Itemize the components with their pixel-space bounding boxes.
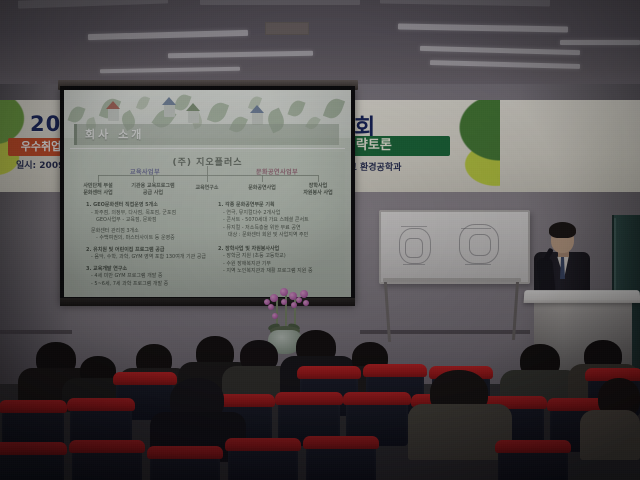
- auditorium-seat[interactable]: [72, 446, 142, 480]
- slide-left-column: 1. GEO문화센터 직접운영 5개소 - 파주점, 의정부, 다사점, 목포점…: [86, 202, 206, 288]
- ceiling-light: [398, 24, 568, 33]
- audience-shoulders: [580, 410, 640, 460]
- org-node: 장학사업자원봉사 사업: [295, 183, 341, 197]
- slide-divider: [70, 148, 345, 149]
- slide-body: (주) 지오플러스 교육사업부 문화공연사업부 사민단체 부설문화센터 사업 기…: [70, 152, 345, 294]
- org-group-label-education: 교육사업부: [130, 167, 160, 176]
- auditorium-seat[interactable]: [306, 442, 376, 480]
- slide-right-column: 1. 각종 문화공연부문 기획 - 연극, 뮤지컬다수 2개사업 - 콘서트 -…: [218, 202, 340, 276]
- ceiling-light: [168, 51, 313, 59]
- ceiling: [0, 0, 640, 92]
- wall-rail: [360, 330, 530, 334]
- whiteboard-tray: [383, 278, 521, 282]
- projection-screen: 회사 소개 (주) 지오플러스 교육사업부 문화공연사업부 사민단체 부설문화센…: [64, 90, 351, 297]
- org-node: 문화공연사업: [239, 185, 285, 192]
- screen-bottom-bar: [60, 298, 355, 306]
- auditorium-seat[interactable]: [150, 452, 220, 480]
- auditorium-seat[interactable]: [498, 446, 568, 480]
- slide-house-icon: [188, 110, 199, 123]
- ceiling-light: [560, 40, 640, 45]
- wall-rail: [0, 330, 72, 334]
- ceiling-light: [88, 30, 248, 40]
- ceiling-light: [100, 67, 240, 73]
- slide-title: 회사 소개: [77, 124, 339, 145]
- slide-title-bar: 회사 소개: [74, 124, 339, 145]
- auditorium-seat[interactable]: [0, 448, 64, 480]
- auditorium-seat[interactable]: [228, 444, 298, 480]
- presenter-hair: [549, 222, 576, 238]
- lectern-top: [524, 290, 640, 303]
- org-node: 교육연구소: [184, 185, 230, 192]
- slide-house-icon: [108, 108, 119, 121]
- ceiling-light: [430, 60, 580, 69]
- ceiling-vent: [265, 22, 309, 35]
- photo-scene: 200 우수취업 일시: 2009. 수회 공전략토론 대학교 환경공학과: [0, 0, 640, 480]
- slide-house-icon: [164, 104, 175, 117]
- org-node: 사민단체 부설문화센터 사업: [75, 183, 121, 197]
- ceiling-light: [420, 46, 580, 55]
- org-group-label-culture: 문화공연사업부: [256, 167, 298, 176]
- org-node: 기관용 교육프로그램공급 사업: [130, 183, 176, 197]
- whiteboard: [379, 210, 530, 284]
